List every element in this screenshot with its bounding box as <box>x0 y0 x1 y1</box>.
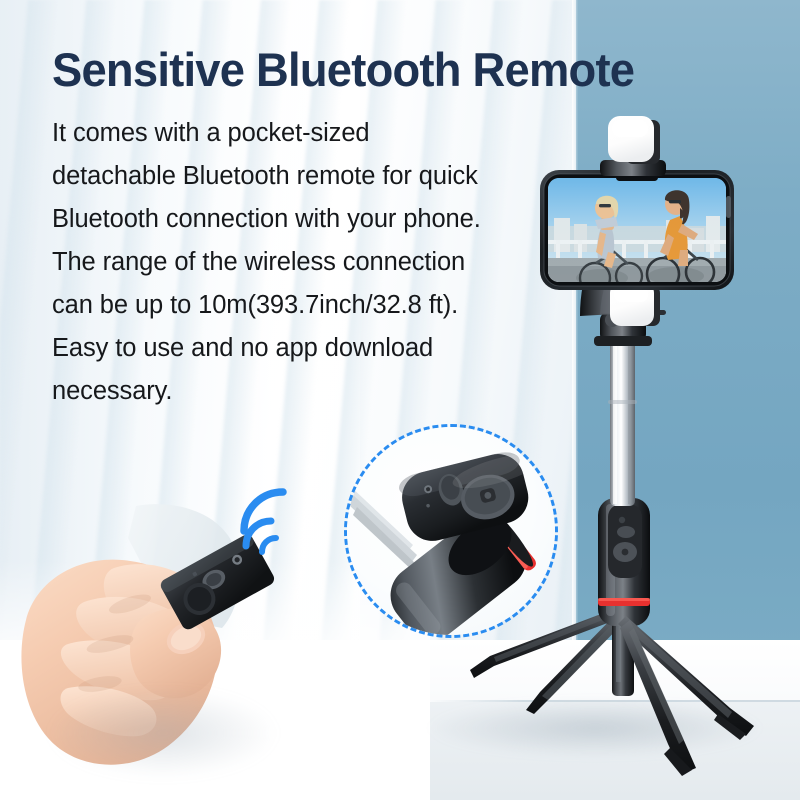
callout-illustration <box>347 427 555 635</box>
zoom-callout-circle <box>344 424 558 638</box>
docked-remote <box>608 504 642 578</box>
bluetooth-signal-waves <box>236 484 320 556</box>
screen-photo <box>548 178 726 293</box>
hand-shadow <box>48 688 278 778</box>
smartphone <box>540 170 734 293</box>
product-marketing-image: Sensitive Bluetooth Remote It comes with… <box>0 0 800 800</box>
signal-arc-3 <box>262 538 276 552</box>
callout-interior <box>347 427 555 635</box>
page-title: Sensitive Bluetooth Remote <box>52 42 739 98</box>
handle-power-indicator <box>619 517 625 523</box>
led-light-top <box>608 116 660 164</box>
description-paragraph: It comes with a pocket-sized detachable … <box>52 112 488 413</box>
tripod-leg-front <box>620 620 696 776</box>
handle-mode-button <box>617 526 635 538</box>
tripod-leg-right <box>618 616 754 740</box>
